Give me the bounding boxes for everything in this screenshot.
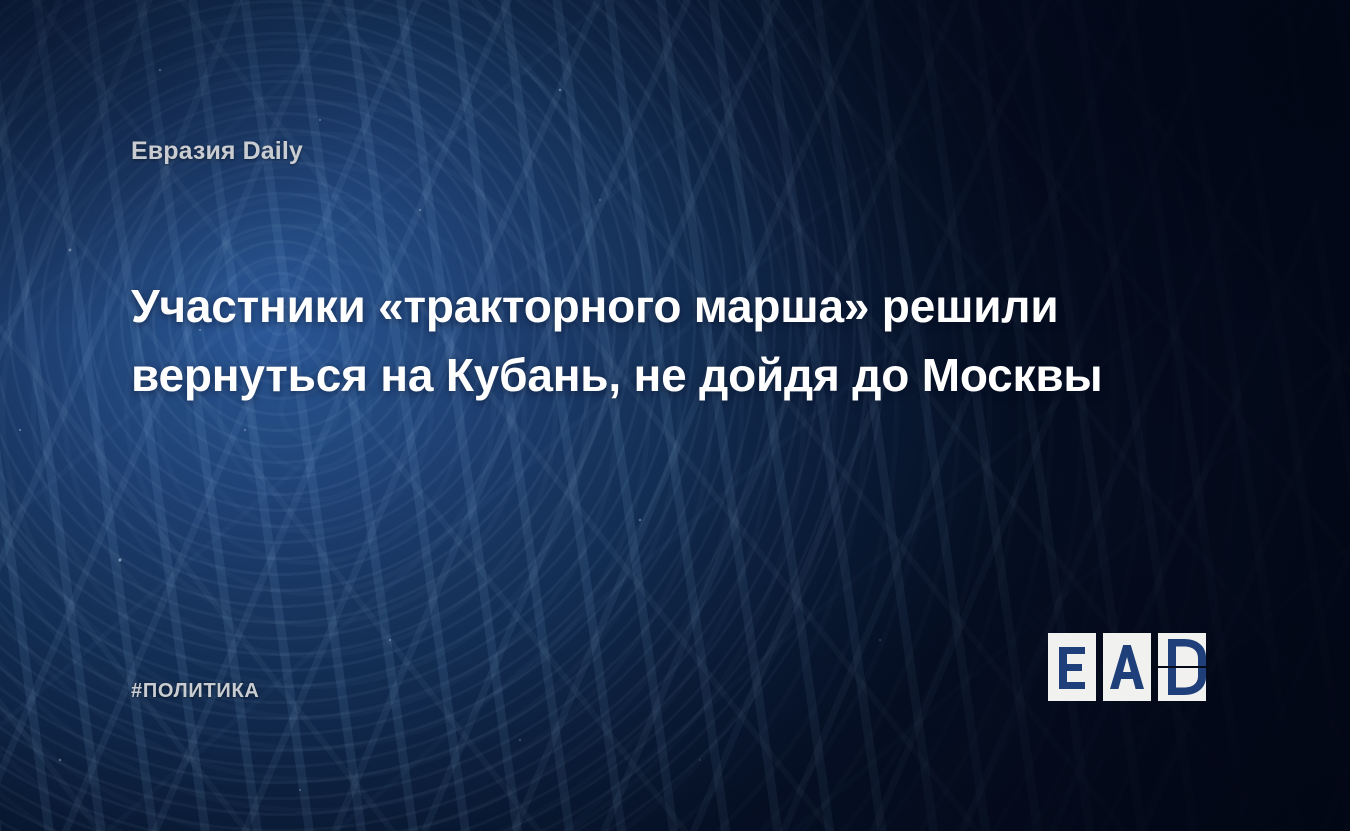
- logo-tile-d: [1158, 633, 1214, 701]
- news-share-card: Евразия Daily Участники «тракторного мар…: [0, 0, 1350, 831]
- logo-letter-e-icon: [1057, 645, 1087, 689]
- brand-name: Евразия Daily: [131, 137, 303, 166]
- card-content: Евразия Daily Участники «тракторного мар…: [0, 0, 1350, 831]
- category-tag[interactable]: #ПОЛИТИКА: [131, 680, 260, 703]
- logo-letter-a-icon: [1110, 645, 1144, 689]
- eadaily-logo[interactable]: [1048, 633, 1220, 701]
- logo-letter-d-icon: [1158, 633, 1214, 701]
- logo-tile-e: [1048, 633, 1096, 701]
- logo-tile-a: [1103, 633, 1151, 701]
- headline: Участники «тракторного марша» решили вер…: [131, 272, 1201, 409]
